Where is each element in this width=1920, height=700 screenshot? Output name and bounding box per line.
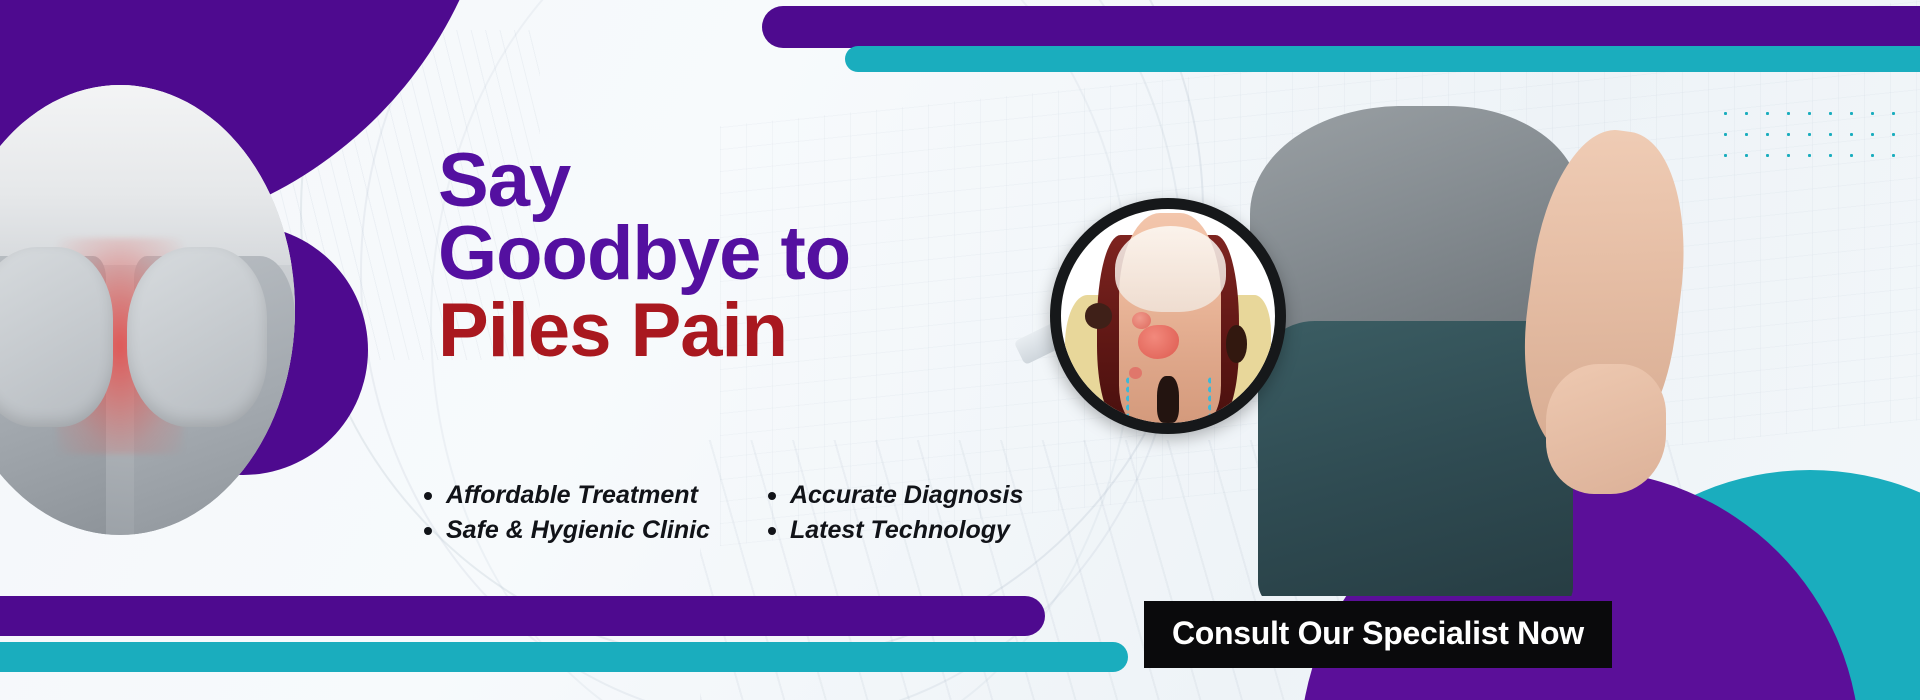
feature-item: Accurate Diagnosis	[764, 478, 1023, 513]
anatomy-hemorrhoid-main	[1138, 325, 1179, 359]
anatomy-hemorrhoid-small	[1132, 312, 1151, 329]
anatomy-lining	[1115, 226, 1226, 312]
left-photo-hand-right	[127, 247, 267, 427]
consult-specialist-button[interactable]: Consult Our Specialist Now	[1144, 601, 1612, 668]
left-patient-photo	[0, 85, 295, 535]
anatomy-center-structure	[1157, 376, 1178, 423]
headline-line-1: Say	[438, 145, 850, 218]
bottom-teal-bar	[0, 642, 1128, 672]
piles-treatment-banner: Say Goodbye to Piles Pain Affordable Tre…	[0, 0, 1920, 700]
anatomy-illustration	[1061, 209, 1275, 423]
headline-line-2: Goodbye to	[438, 218, 850, 291]
magnifier-ring	[1050, 198, 1286, 434]
bottom-purple-bar	[0, 596, 1045, 636]
feature-item: Latest Technology	[764, 513, 1023, 548]
anatomy-beads-left	[1125, 376, 1129, 422]
magnifier-illustration	[1050, 198, 1286, 434]
headline: Say Goodbye to Piles Pain	[438, 145, 850, 368]
anatomy-dark-spot-right	[1226, 325, 1247, 364]
headline-line-3: Piles Pain	[438, 295, 850, 368]
top-purple-bar	[762, 6, 1920, 48]
feature-column-left: Affordable Treatment Safe & Hygienic Cli…	[420, 478, 710, 547]
teal-dot-grid-decoration	[1715, 103, 1907, 163]
feature-item: Safe & Hygienic Clinic	[420, 513, 710, 548]
left-photo-hand-left	[0, 247, 113, 427]
feature-column-right: Accurate Diagnosis Latest Technology	[764, 478, 1023, 547]
feature-list: Affordable Treatment Safe & Hygienic Cli…	[420, 478, 1023, 547]
feature-item: Affordable Treatment	[420, 478, 710, 513]
top-teal-bar	[845, 46, 1920, 72]
anatomy-dark-spot-left	[1085, 303, 1113, 329]
anatomy-beads-right	[1207, 376, 1211, 422]
right-photo-hand	[1546, 364, 1666, 494]
